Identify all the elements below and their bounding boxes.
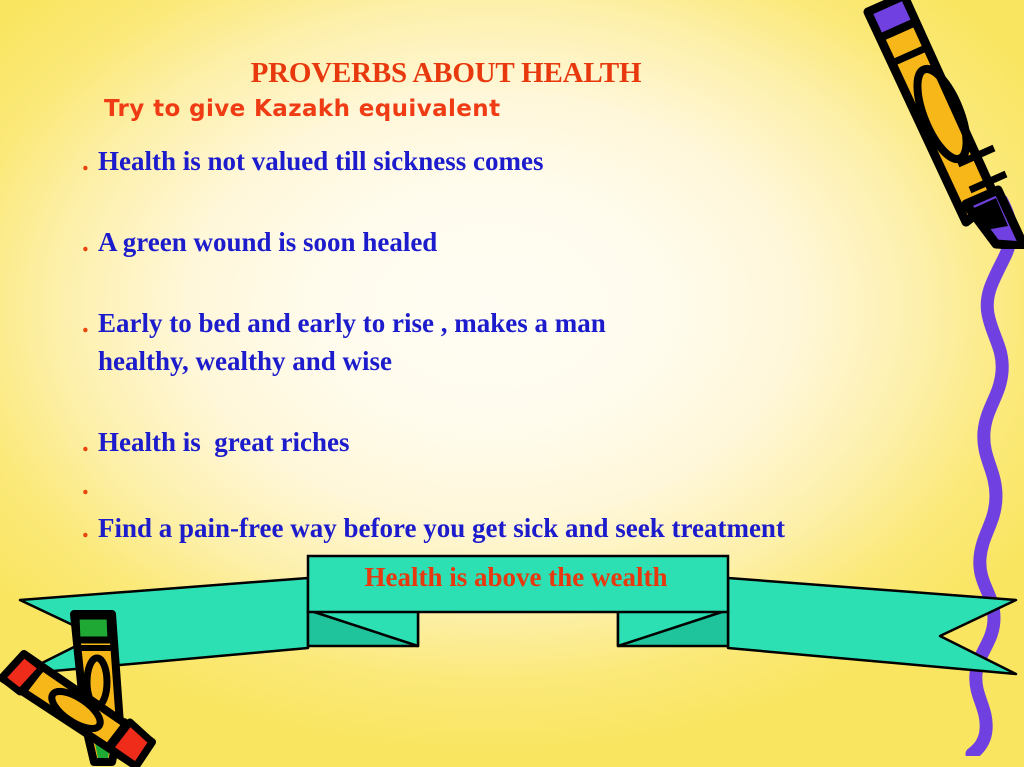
bullet-marker: .	[82, 223, 98, 261]
list-item-empty: .	[82, 466, 1024, 504]
bullet-marker: .	[82, 423, 98, 461]
list-item: . Health is great riches	[82, 423, 1024, 461]
page-subtitle: Try to give Kazakh equivalent	[104, 96, 500, 122]
list-item: . A green wound is soon healed	[82, 223, 1024, 261]
bullet-marker: .	[82, 466, 98, 504]
list-item: . Health is not valued till sickness com…	[82, 142, 1024, 180]
bullet-text: A green wound is soon healed	[98, 223, 1024, 261]
bullet-text: Health is not valued till sickness comes	[98, 142, 1024, 180]
bullet-marker: .	[82, 304, 98, 342]
bullet-text: Health is great riches	[98, 423, 1024, 461]
page-title: PROVERBS ABOUT HEALTH	[0, 57, 1024, 90]
list-spacer	[82, 380, 1024, 423]
list-spacer	[82, 261, 1024, 304]
bullet-text: Find a pain-free way before you get sick…	[98, 509, 1024, 547]
list-item: . Find a pain-free way before you get si…	[82, 509, 1024, 547]
banner-text: Health is above the wealth	[304, 562, 728, 593]
list-spacer	[82, 180, 1024, 223]
proverbs-list: . Health is not valued till sickness com…	[82, 142, 1024, 547]
bullet-marker: .	[82, 509, 98, 547]
list-item: . Early to bed and early to rise , makes…	[82, 304, 1024, 380]
bullet-text: Early to bed and early to rise , makes a…	[98, 304, 1024, 380]
slide-canvas: PROVERBS ABOUT HEALTH Try to give Kazakh…	[0, 0, 1024, 767]
bullet-marker: .	[82, 142, 98, 180]
